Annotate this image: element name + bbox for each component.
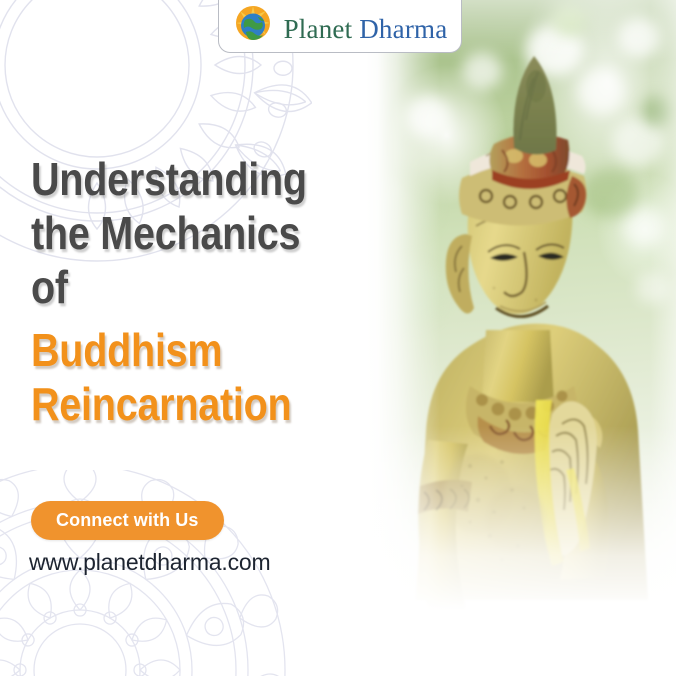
brand-name-part2: Dharma — [359, 14, 447, 44]
connect-with-us-button[interactable]: Connect with Us — [31, 501, 224, 540]
cta-container: Connect with Us — [31, 501, 224, 540]
sun-globe-icon — [233, 3, 273, 43]
brand-name-part1: Planet — [284, 14, 353, 44]
poster-canvas: Planet Dharma Understanding the Mechanic… — [0, 0, 676, 676]
brand-logo-card[interactable]: Planet Dharma — [218, 0, 462, 53]
headline-line-4: Buddhism — [31, 323, 315, 377]
headline-line-3: of — [31, 260, 315, 314]
website-url[interactable]: www.planetdharma.com — [29, 549, 270, 576]
headline-line-2: the Mechanics — [31, 206, 315, 260]
headline-line-5: Reincarnation — [31, 377, 315, 431]
hero-fade-bottom — [366, 426, 676, 676]
page-title: Understanding the Mechanics of Buddhism … — [31, 152, 361, 431]
brand-wordmark: Planet Dharma — [284, 16, 448, 43]
headline-spacer — [31, 314, 361, 323]
hero-image-buddha-statue — [366, 0, 676, 676]
headline-line-1: Understanding — [31, 152, 315, 206]
